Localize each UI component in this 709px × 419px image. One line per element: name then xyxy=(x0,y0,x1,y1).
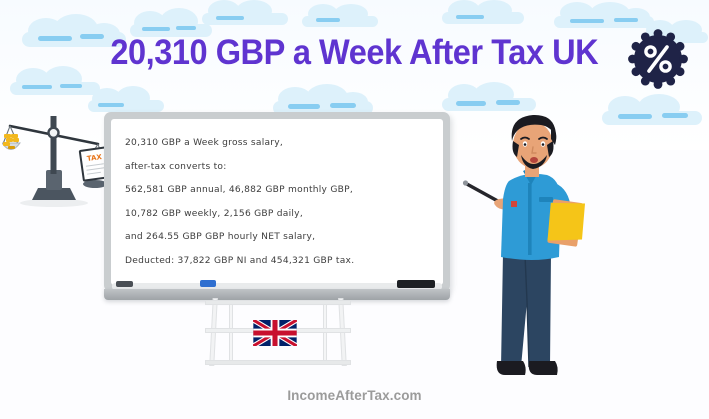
eraser-icon xyxy=(397,280,435,288)
page-title: 20,310 GBP a Week After Tax UK xyxy=(0,26,709,80)
stand-crossbar-top xyxy=(205,300,351,305)
whiteboard-surface: 20,310 GBP a Week gross salary, after-ta… xyxy=(111,119,443,285)
whiteboard-line-2: after-tax converts to: xyxy=(125,156,443,180)
whiteboard: 20,310 GBP a Week gross salary, after-ta… xyxy=(104,112,450,292)
stand-inner-right xyxy=(323,304,327,362)
stand-inner-left xyxy=(229,304,233,362)
footer-brand: IncomeAfterTax.com xyxy=(0,388,709,403)
infographic-canvas: 20,310 GBP a Week After Tax UK xyxy=(0,0,709,419)
marker-dark-icon xyxy=(116,281,133,287)
whiteboard-line-6: Deducted: 37,822 GBP NI and 454,321 GBP … xyxy=(125,250,443,274)
balance-scale-icon: TAX xyxy=(2,108,106,208)
page-title-text: 20,310 GBP a Week After Tax UK xyxy=(111,33,599,73)
cloud-icon xyxy=(300,4,380,28)
stand-crossbar-bottom xyxy=(205,360,351,365)
whiteboard-line-5: and 264.55 GBP GBP hourly NET salary, xyxy=(125,226,443,250)
uk-flag-icon xyxy=(253,320,297,346)
whiteboard-line-1: 20,310 GBP a Week gross salary, xyxy=(125,132,443,156)
cloud-icon xyxy=(440,0,526,26)
teacher-pointing-icon xyxy=(455,105,595,380)
whiteboard-line-3: 562,581 GBP annual, 46,882 GBP monthly G… xyxy=(125,179,443,203)
percent-badge-icon xyxy=(628,29,688,89)
marker-blue-icon xyxy=(200,280,216,287)
cloud-icon xyxy=(200,0,290,26)
cloud-icon xyxy=(600,94,704,126)
whiteboard-line-4: 10,782 GBP weekly, 2,156 GBP daily, xyxy=(125,203,443,227)
